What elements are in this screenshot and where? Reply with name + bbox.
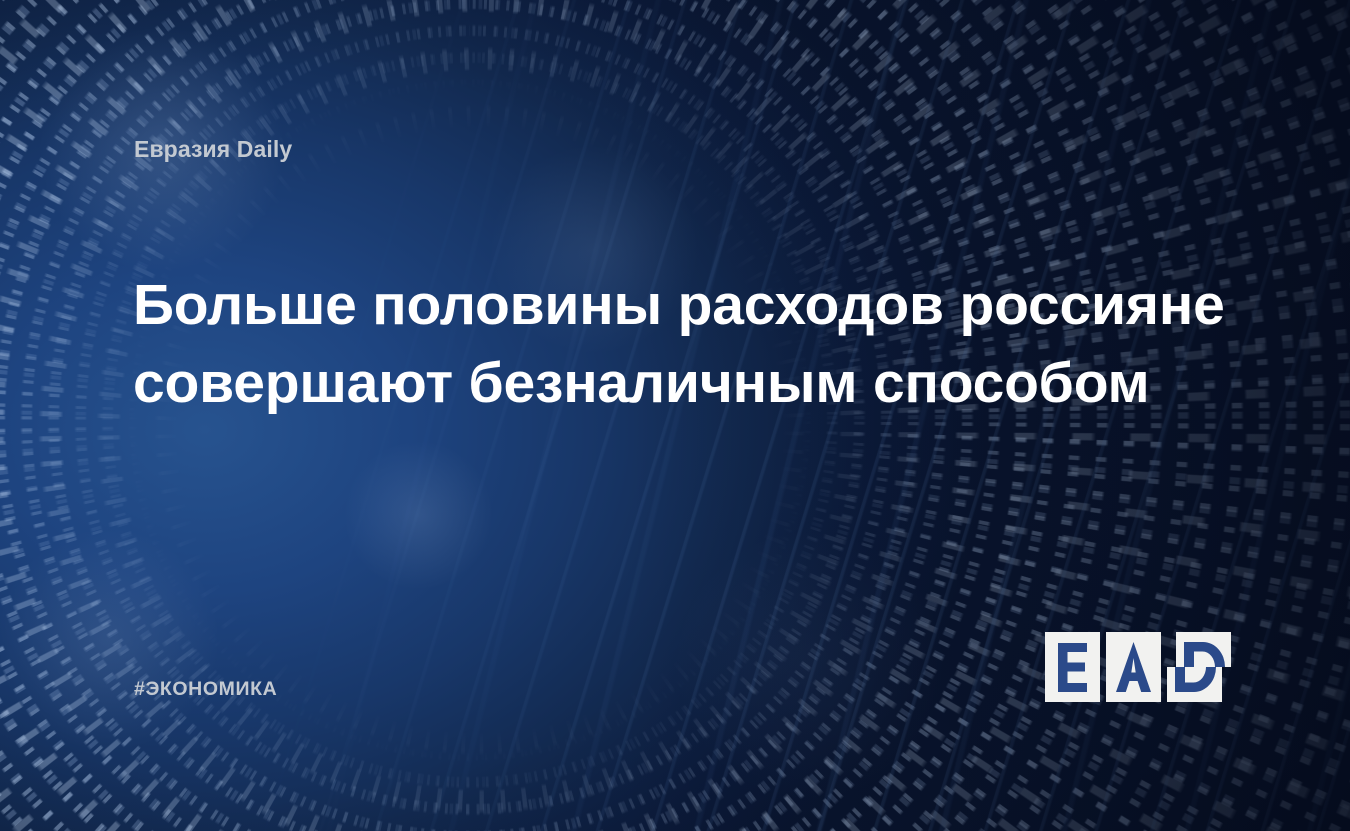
logo-tile-d-lower xyxy=(1167,667,1222,702)
letter-d-lower-icon xyxy=(1167,667,1222,702)
letter-e-icon xyxy=(1045,632,1100,702)
letter-a-icon xyxy=(1106,632,1161,702)
logo-tile-a xyxy=(1106,632,1161,702)
headline-line-2: совершают безналичным способом xyxy=(133,344,1203,422)
headline-line-1: Больше половины расходов россияне xyxy=(133,266,1203,344)
brand-name: Евразия Daily xyxy=(134,136,292,163)
eadaily-logo xyxy=(1045,632,1221,702)
page-title: Больше половины расходов россияне соверш… xyxy=(133,266,1203,422)
logo-tile-d xyxy=(1167,632,1221,702)
logo-tile-d-upper xyxy=(1176,632,1231,667)
letter-d-upper-icon xyxy=(1176,632,1231,667)
news-share-card: Евразия Daily Больше половины расходов р… xyxy=(0,0,1350,831)
logo-tile-e xyxy=(1045,632,1100,702)
category-tag: #ЭКОНОМИКА xyxy=(134,678,277,701)
